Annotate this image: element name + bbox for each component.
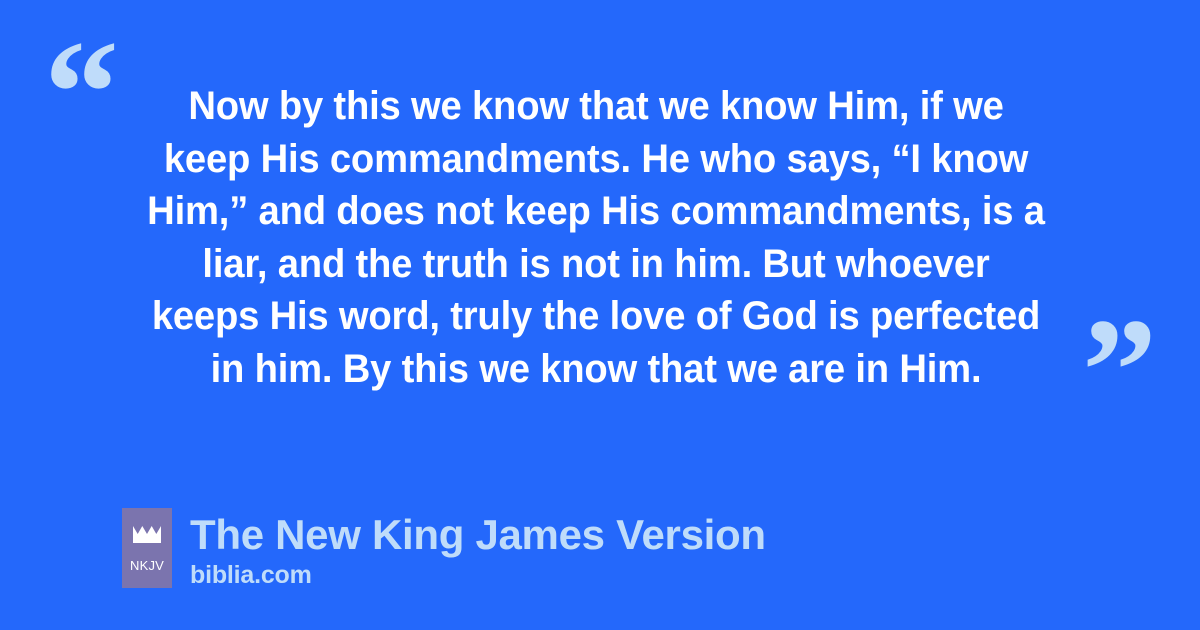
verse-line: keeps His word, truly the love of God is…	[130, 290, 1062, 343]
closing-quote-icon: ”	[1082, 296, 1157, 446]
version-badge: NKJV	[122, 508, 172, 588]
verse-card: “ Now by this we know that we know Him, …	[0, 0, 1200, 630]
badge-abbreviation: NKJV	[130, 559, 164, 572]
verse-line: keep His commandments. He who says, “I k…	[130, 133, 1062, 186]
verse-text: Now by this we know that we know Him, if…	[108, 80, 1084, 395]
verse-line: liar, and the truth is not in him. But w…	[130, 238, 1062, 291]
verse-line: Now by this we know that we know Him, if…	[130, 80, 1062, 133]
verse-line: in him. By this we know that we are in H…	[130, 343, 1062, 396]
site-url[interactable]: biblia.com	[190, 560, 766, 590]
verse-line: Him,” and does not keep His commandments…	[130, 185, 1062, 238]
crown-icon	[133, 525, 161, 543]
attribution: NKJV The New King James Version biblia.c…	[122, 508, 766, 590]
attribution-text: The New King James Version biblia.com	[190, 508, 766, 590]
bible-version-title: The New King James Version	[190, 512, 766, 558]
